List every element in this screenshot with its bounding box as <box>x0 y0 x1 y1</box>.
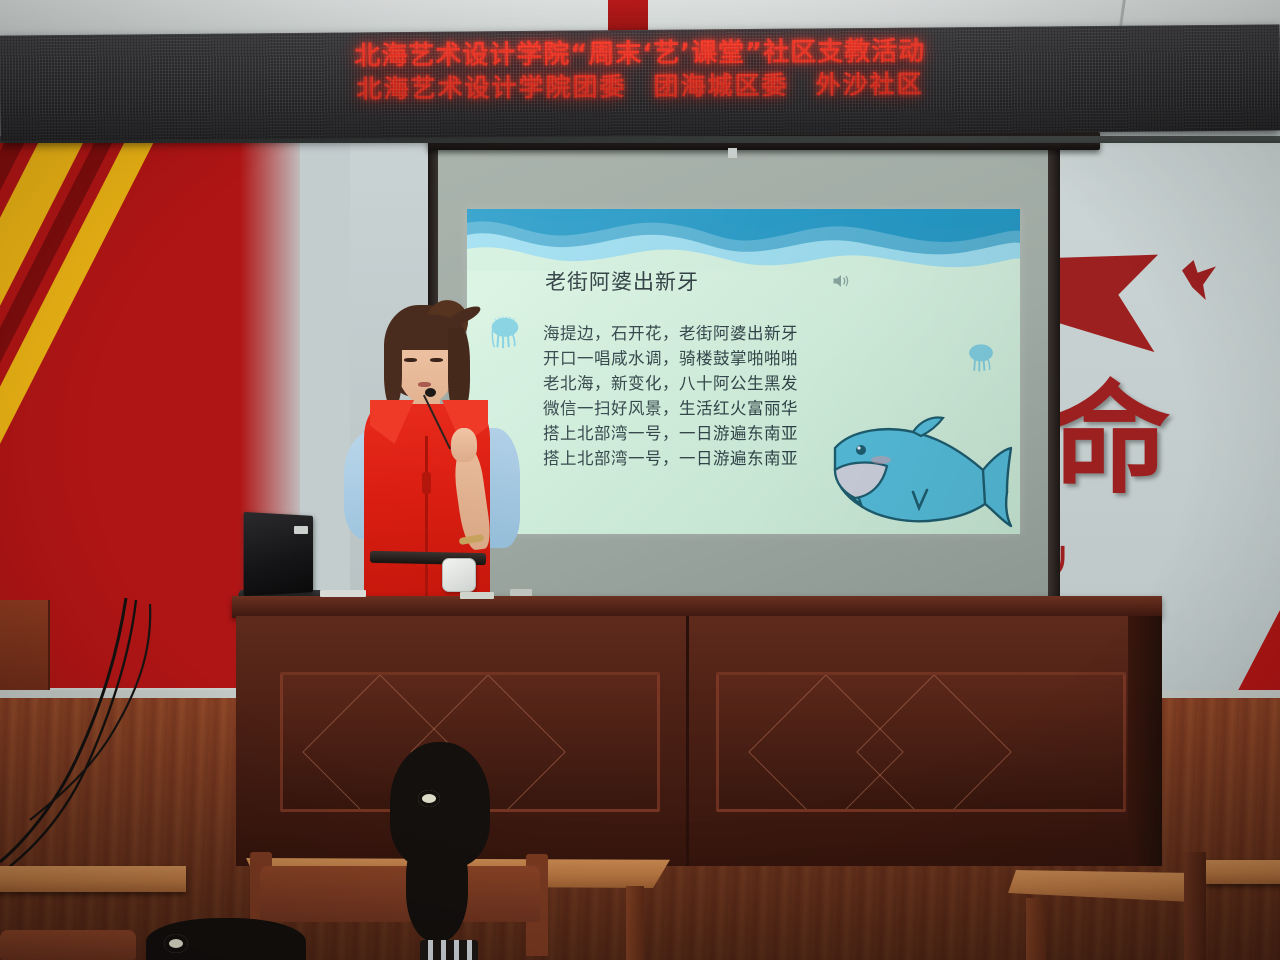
desk-leg <box>1184 852 1206 960</box>
hair-tie <box>164 934 188 953</box>
podium-side-face <box>1128 616 1162 866</box>
headset-microphone-capsule <box>425 388 436 397</box>
presenter-volunteer <box>318 300 518 612</box>
desk-leg <box>626 886 644 960</box>
led-scrolling-banner: 北海艺术设计学院“周末‘艺’课堂”社区支教活动 北海艺术设计学院团委 团海城区委… <box>0 24 1280 141</box>
wall-character-ming: 命 <box>1050 380 1170 500</box>
classroom-presentation-photo: 命 丿 老街阿婆出新牙 海提边，石开花，老街阿婆出新牙 开口一唱 <box>0 0 1280 960</box>
shark-icon <box>817 414 1013 534</box>
speaker-icon[interactable] <box>830 271 852 291</box>
desk-leg <box>1026 898 1046 960</box>
mouth <box>418 382 431 387</box>
eye-right <box>430 358 443 362</box>
slide-title: 老街阿婆出新牙 <box>545 266 699 296</box>
chair-left[interactable] <box>0 930 140 960</box>
student-center <box>372 742 502 960</box>
student-front-left <box>146 912 316 960</box>
eye-left <box>404 358 417 362</box>
screen-frame-right <box>1048 140 1060 600</box>
chair-backrest <box>0 930 136 960</box>
slide-wave-decoration <box>467 209 1020 271</box>
vest-zipper-pull <box>422 472 431 494</box>
slide-line: 老北海，新变化，八十阿公生黑发 <box>543 371 963 396</box>
desk-surface <box>1206 860 1280 884</box>
podium-seam <box>686 616 689 866</box>
jellyfish-icon <box>964 340 998 376</box>
red-flag-icon <box>1043 246 1168 362</box>
laptop-lid <box>244 512 313 596</box>
hair-side-left <box>384 330 402 406</box>
slide-line: 开口一唱咸水调，骑楼鼓掌啪啪啪 <box>543 346 963 371</box>
hand-right <box>451 428 477 462</box>
podium-panel-right <box>716 672 1126 812</box>
slide-line: 海提边，石开花，老街阿婆出新牙 <box>543 321 963 346</box>
vest-zipper <box>425 436 428 602</box>
panel-diamond <box>856 674 1012 812</box>
desk-surface <box>0 866 186 892</box>
screen-pull-notch[interactable] <box>728 148 737 158</box>
desk-right <box>1008 852 1280 960</box>
dove-icon <box>1182 260 1216 300</box>
hair-tie <box>418 790 440 807</box>
slide-content: 老街阿婆出新牙 海提边，石开花，老街阿婆出新牙 开口一唱咸水调，骑楼鼓掌啪啪啪 … <box>467 209 1020 534</box>
power-cables <box>0 590 400 880</box>
uniform-stripe <box>420 940 478 960</box>
hair-ponytail <box>406 832 468 942</box>
laptop-logo <box>294 526 308 534</box>
